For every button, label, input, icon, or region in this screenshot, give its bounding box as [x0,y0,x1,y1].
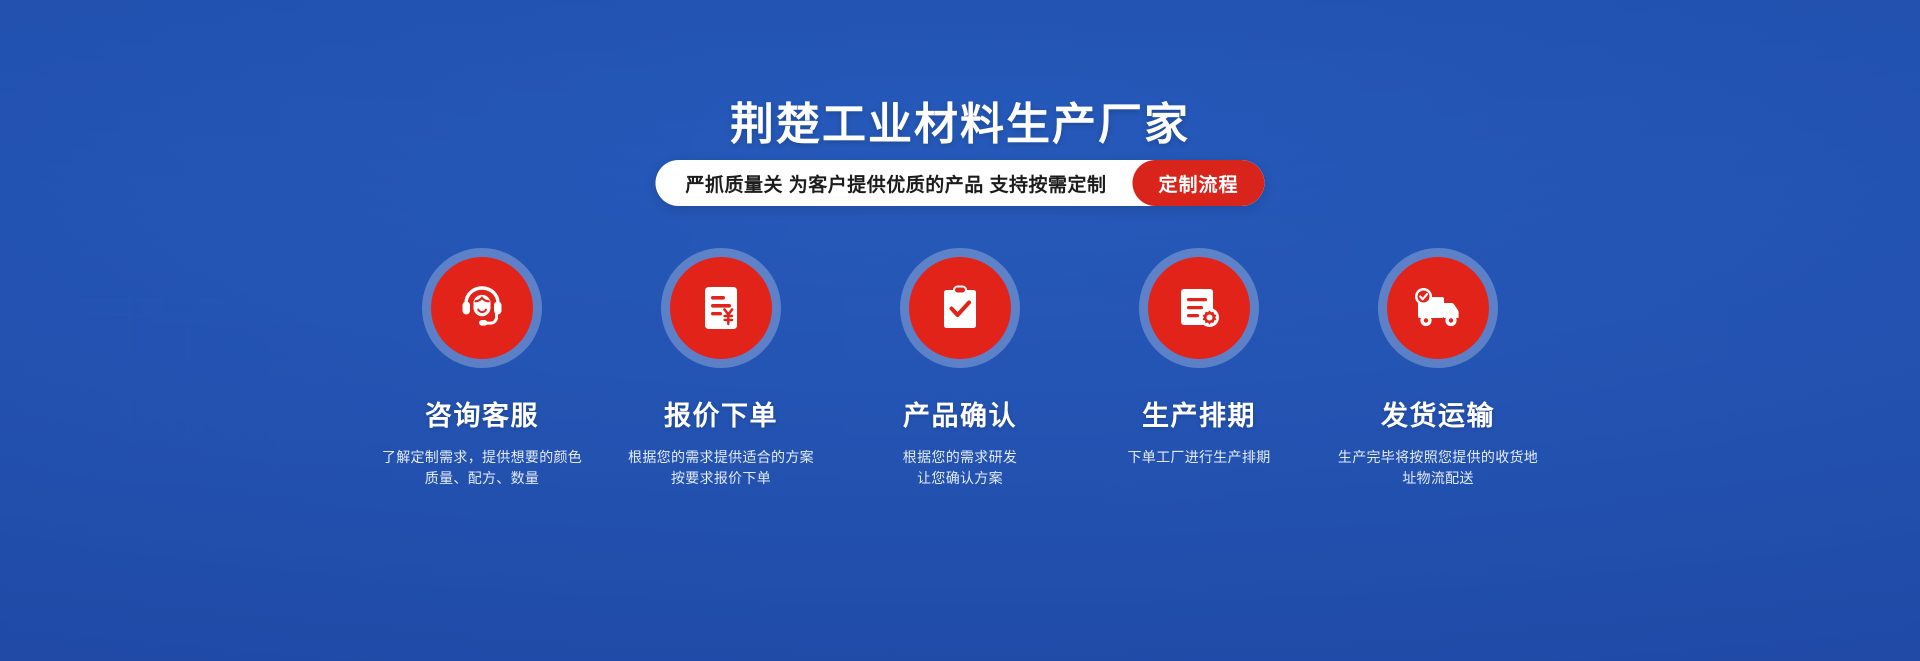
hero-banner: 荆楚工业材料生产厂家 严抓质量关 为客户提供优质的产品 支持按需定制 定制流程 [0,0,1920,661]
step-badge-circle [1148,257,1250,359]
step-badge-ring [422,248,542,368]
step-badge-ring [661,248,781,368]
document-gear-icon [1173,282,1225,334]
step-badge-ring [1378,248,1498,368]
subtitle-bar: 严抓质量关 为客户提供优质的产品 支持按需定制 定制流程 [655,160,1264,206]
step-description-line1: 下单工厂进行生产排期 [1128,449,1271,465]
delivery-truck-check-icon [1410,284,1466,332]
headset-customer-service-icon [455,281,509,335]
process-steps: 咨询客服 了解定制需求，提供想要的颜色 质量、配方、数量 [370,248,1550,489]
step-description: 根据您的需求提供适合的方案 按要求报价下单 [616,447,826,489]
step-item-confirm[interactable]: 产品确认 根据您的需求研发 让您确认方案 [848,248,1072,489]
step-item-schedule[interactable]: 生产排期 下单工厂进行生产排期 [1087,248,1311,489]
step-description-line1: 了解定制需求，提供想要的颜色 [382,449,582,465]
step-description-line1: 根据您的需求提供适合的方案 [628,449,814,465]
custom-process-button[interactable]: 定制流程 [1133,160,1265,206]
step-item-delivery[interactable]: 发货运输 生产完毕将按照您提供的收货地 址物流配送 [1326,248,1550,489]
step-title: 产品确认 [903,394,1017,433]
step-description-line1: 生产完毕将按照您提供的收货地 [1338,449,1538,465]
step-badge-circle [670,257,772,359]
step-item-consult[interactable]: 咨询客服 了解定制需求，提供想要的颜色 质量、配方、数量 [370,248,594,489]
step-description: 根据您的需求研发 让您确认方案 [855,447,1065,489]
step-description-line1: 根据您的需求研发 [903,449,1017,465]
step-badge-ring [1139,248,1259,368]
step-description: 生产完毕将按照您提供的收货地 址物流配送 [1323,447,1553,489]
clipboard-check-icon [936,281,984,335]
step-title: 发货运输 [1381,394,1495,433]
step-badge-circle [909,257,1011,359]
step-description-line2: 让您确认方案 [917,470,1003,486]
step-title: 生产排期 [1142,394,1256,433]
subtitle-text: 严抓质量关 为客户提供优质的产品 支持按需定制 [655,160,1132,206]
step-description-line2: 按要求报价下单 [671,470,771,486]
banner-content: 荆楚工业材料生产厂家 严抓质量关 为客户提供优质的产品 支持按需定制 定制流程 [0,0,1920,661]
step-item-quote[interactable]: 报价下单 根据您的需求提供适合的方案 按要求报价下单 [609,248,833,489]
step-badge-ring [900,248,1020,368]
invoice-yen-document-icon [696,281,746,335]
page-title: 荆楚工业材料生产厂家 [0,88,1920,152]
step-badge-circle [1387,257,1489,359]
step-description: 了解定制需求，提供想要的颜色 质量、配方、数量 [377,447,587,489]
step-title: 咨询客服 [425,394,539,433]
step-title: 报价下单 [664,394,778,433]
step-description-line2: 址物流配送 [1402,470,1474,486]
step-description: 下单工厂进行生产排期 [1094,447,1304,468]
step-description-line2: 质量、配方、数量 [425,470,539,486]
step-badge-circle [431,257,533,359]
